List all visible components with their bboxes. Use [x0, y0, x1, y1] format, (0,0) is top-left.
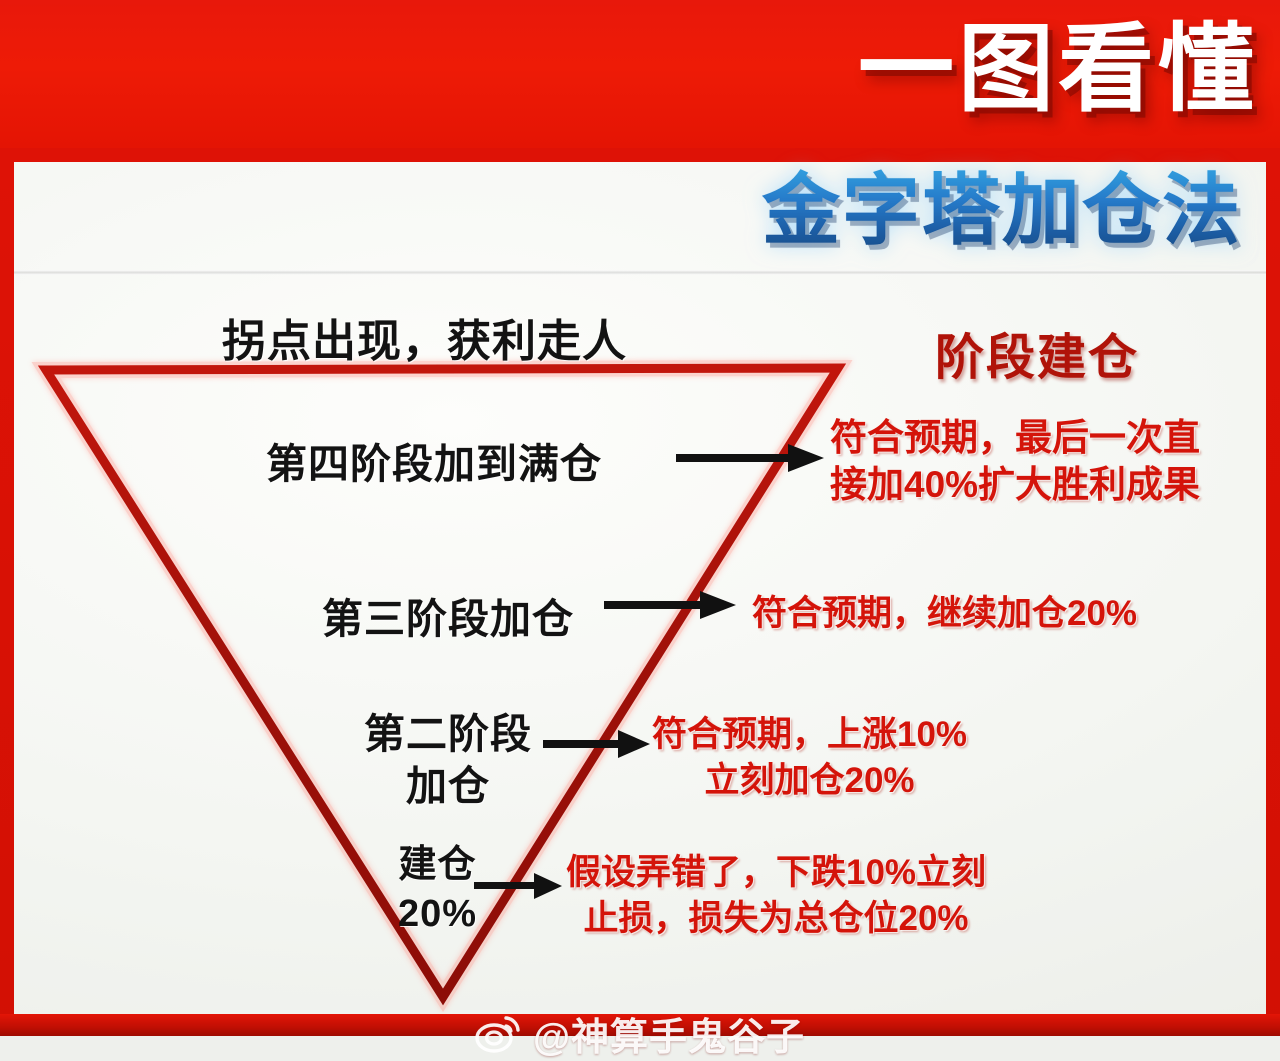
stage-1-label: 建仓 20%: [398, 841, 477, 940]
stage-4-label: 第四阶段加到满仓: [266, 430, 602, 490]
stage-2-note-line-2: 立刻加仓20%: [652, 758, 967, 804]
top-note-label: 拐点出现，获利走人: [222, 305, 627, 369]
stage-2-note-line-1: 符合预期，上涨10%: [652, 712, 967, 758]
banner-title: 一图看懂: [858, 20, 1258, 121]
panel-divider: [14, 270, 1266, 275]
stage-4-note-line-2: 接加40%扩大胜利成果: [830, 461, 1200, 508]
stage-1-label-line-2: 20%: [398, 890, 477, 939]
stage-2-label: 第二阶段 加仓: [364, 708, 532, 813]
stage-3-note-line-1: 符合预期，继续加仓20%: [752, 585, 1137, 636]
bottom-strip: [0, 1014, 1280, 1036]
stage-3-note: 符合预期，继续加仓20%: [752, 585, 1137, 636]
stage-2-label-line-1: 第二阶段: [364, 708, 532, 760]
right-heading: 阶段建仓: [935, 318, 1139, 389]
stage-1-note-line-2: 止损，损失为总仓位20%: [566, 896, 986, 942]
stage-3-label: 第三阶段加仓: [322, 585, 574, 645]
top-banner: 一图看懂: [0, 0, 1280, 148]
stage-1-note: 假设弄错了，下跌10%立刻 止损，损失为总仓位20%: [566, 850, 986, 941]
stage-2-label-line-2: 加仓: [364, 760, 532, 812]
stage-2-note: 符合预期，上涨10% 立刻加仓20%: [652, 712, 967, 803]
bottom-margin: [0, 1036, 1280, 1061]
infographic-root: 一图看懂 金字塔加仓法: [0, 0, 1280, 1061]
stage-4-note-line-1: 符合预期，最后一次直: [830, 414, 1200, 461]
stage-1-label-line-1: 建仓: [398, 841, 477, 890]
page-title: 金字塔加仓法: [762, 168, 1242, 252]
stage-1-note-line-1: 假设弄错了，下跌10%立刻: [566, 850, 986, 896]
stage-4-note: 符合预期，最后一次直 接加40%扩大胜利成果: [830, 414, 1200, 509]
